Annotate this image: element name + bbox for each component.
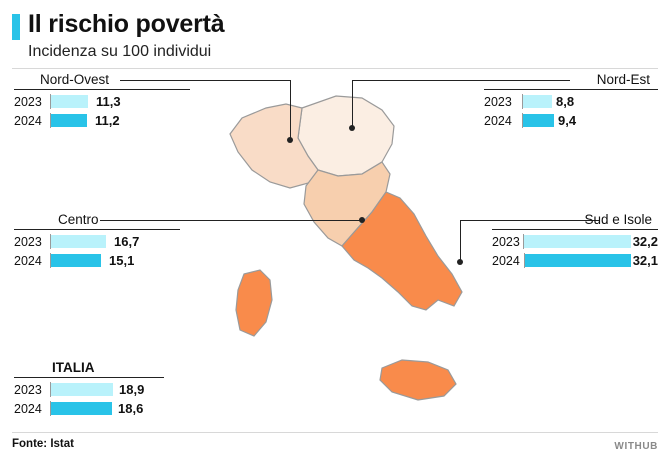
row-year: 2023 <box>14 383 48 397</box>
table-row: 2023 16,7 <box>14 234 180 249</box>
bar-track <box>523 235 631 248</box>
group-sud-e-isole: Sud e Isole 2023 32,2 2024 32,1 <box>492 212 658 268</box>
table-row: 2024 18,6 <box>14 401 164 416</box>
group-underline-sud-e-isole <box>492 229 658 230</box>
row-year: 2023 <box>492 235 521 249</box>
row-value: 32,2 <box>633 234 658 249</box>
bar-2024 <box>50 402 112 415</box>
bar-track <box>50 95 170 108</box>
group-italia: ITALIA 2023 18,9 2024 18,6 <box>14 360 164 416</box>
group-nord-est: Nord-Est 2023 8,8 2024 9,4 <box>484 72 658 128</box>
title-accent-bar <box>12 14 20 40</box>
row-year: 2023 <box>14 95 48 109</box>
table-row: 2023 32,2 <box>492 234 658 249</box>
bar-2023 <box>50 383 113 396</box>
table-row: 2024 9,4 <box>484 113 658 128</box>
row-year: 2023 <box>484 95 520 109</box>
group-centro: Centro 2023 16,7 2024 15,1 <box>14 212 180 268</box>
bar-2024 <box>50 254 101 267</box>
group-nord-ovest: Nord-Ovest 2023 11,3 2024 11,2 <box>14 72 190 128</box>
group-label-sud-e-isole: Sud e Isole <box>492 212 658 227</box>
group-underline-nord-est <box>484 89 658 90</box>
leader-line-nord-ovest-drop <box>290 80 291 140</box>
leader-dot-sud <box>457 259 463 265</box>
table-row: 2024 15,1 <box>14 253 180 268</box>
bar-track <box>50 254 170 267</box>
leader-dot-nord-ovest <box>287 137 293 143</box>
group-underline-centro <box>14 229 180 230</box>
leader-dot-centro <box>359 217 365 223</box>
bar-2023 <box>50 235 106 248</box>
leader-line-nord-est-drop <box>352 80 353 128</box>
row-year: 2024 <box>492 254 522 268</box>
source-label: Fonte: Istat <box>12 438 74 450</box>
row-year: 2024 <box>484 114 520 128</box>
leader-line-sud-drop <box>460 220 461 262</box>
map-region-sardegna <box>236 270 272 336</box>
row-year: 2024 <box>14 402 48 416</box>
page-subtitle: Incidenza su 100 individui <box>28 43 211 61</box>
row-value: 32,1 <box>633 253 658 268</box>
bar-2023 <box>523 235 631 248</box>
group-label-nord-est: Nord-Est <box>484 72 658 87</box>
leader-dot-nord-est <box>349 125 355 131</box>
table-row: 2023 18,9 <box>14 382 164 397</box>
bar-track <box>524 254 631 267</box>
group-label-centro: Centro <box>14 212 180 227</box>
bar-track <box>522 95 582 108</box>
page-title: Il rischio povertà <box>28 10 224 39</box>
row-year: 2024 <box>14 254 48 268</box>
row-year: 2023 <box>14 235 48 249</box>
bar-track <box>50 383 160 396</box>
footer-divider <box>12 432 658 433</box>
group-label-nord-ovest: Nord-Ovest <box>14 72 190 87</box>
bar-track <box>522 114 582 127</box>
bar-track <box>50 402 160 415</box>
group-underline-nord-ovest <box>14 89 190 90</box>
bar-2024 <box>522 114 554 127</box>
table-row: 2024 11,2 <box>14 113 190 128</box>
header-divider <box>12 68 658 69</box>
bar-2023 <box>50 95 88 108</box>
group-underline-italia <box>14 377 164 378</box>
map-region-sicilia <box>380 360 456 400</box>
bar-2023 <box>522 95 552 108</box>
table-row: 2024 32,1 <box>492 253 658 268</box>
bar-2024 <box>50 114 87 127</box>
bar-track <box>50 114 170 127</box>
table-row: 2023 11,3 <box>14 94 190 109</box>
bar-track <box>50 235 170 248</box>
brand-logo: WITHUB <box>614 441 658 452</box>
table-row: 2023 8,8 <box>484 94 658 109</box>
infographic-frame: Il rischio povertà Incidenza su 100 indi… <box>0 0 670 473</box>
group-label-italia: ITALIA <box>14 360 164 375</box>
bar-2024 <box>524 254 631 267</box>
row-year: 2024 <box>14 114 48 128</box>
